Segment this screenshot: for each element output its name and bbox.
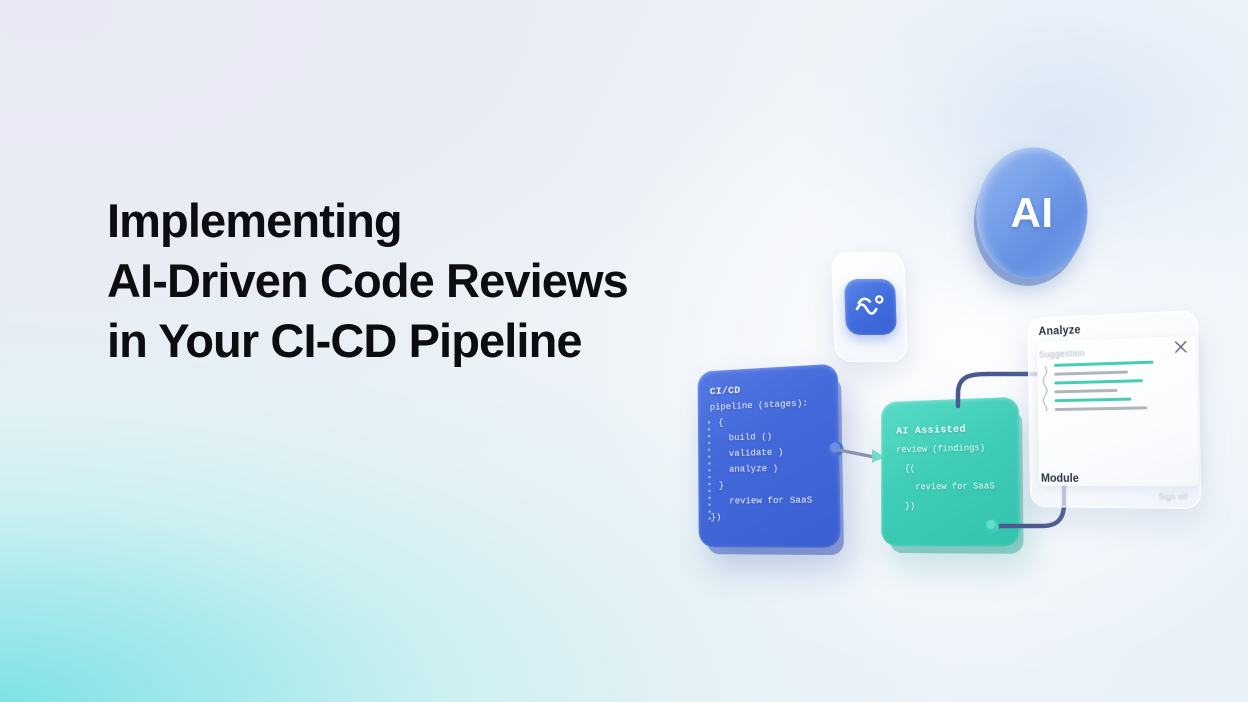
review-panel: Analyze Suggestion Module Sign off <box>1027 310 1201 509</box>
ai-badge-label: AI <box>976 148 1088 278</box>
hero-illustration: AI CI/CD pipeline (stages): { build () v… <box>0 0 1248 702</box>
diff-bar <box>1055 406 1148 411</box>
hero-banner: Implementing AI-Driven Code Reviews in Y… <box>0 0 1248 702</box>
diff-bar <box>1054 389 1117 394</box>
diff-bar <box>1055 398 1132 403</box>
ai-review-wave-icon <box>853 292 888 322</box>
code-line: }) <box>711 509 831 526</box>
cicd-pipeline-card: CI/CD pipeline (stages): { build () vali… <box>698 364 841 548</box>
ai-icon-tile <box>831 252 908 362</box>
review-panel-footer-note: Sign off <box>1158 492 1188 501</box>
review-panel-title: Analyze <box>1038 324 1080 338</box>
close-icon[interactable] <box>1174 340 1187 354</box>
ai-icon-tile-inner <box>844 279 897 335</box>
code-line: review for SaaS <box>710 492 830 509</box>
review-panel-footer-label: Module <box>1041 473 1079 485</box>
cicd-card-code: CI/CD pipeline (stages): { build () vali… <box>710 378 831 525</box>
review-panel-subtitle: Suggestion <box>1039 348 1085 360</box>
review-diff-lines <box>1054 360 1181 417</box>
code-line: } <box>710 476 829 494</box>
code-squiggle-icon <box>1040 365 1050 412</box>
ai-badge: AI <box>966 134 1097 291</box>
